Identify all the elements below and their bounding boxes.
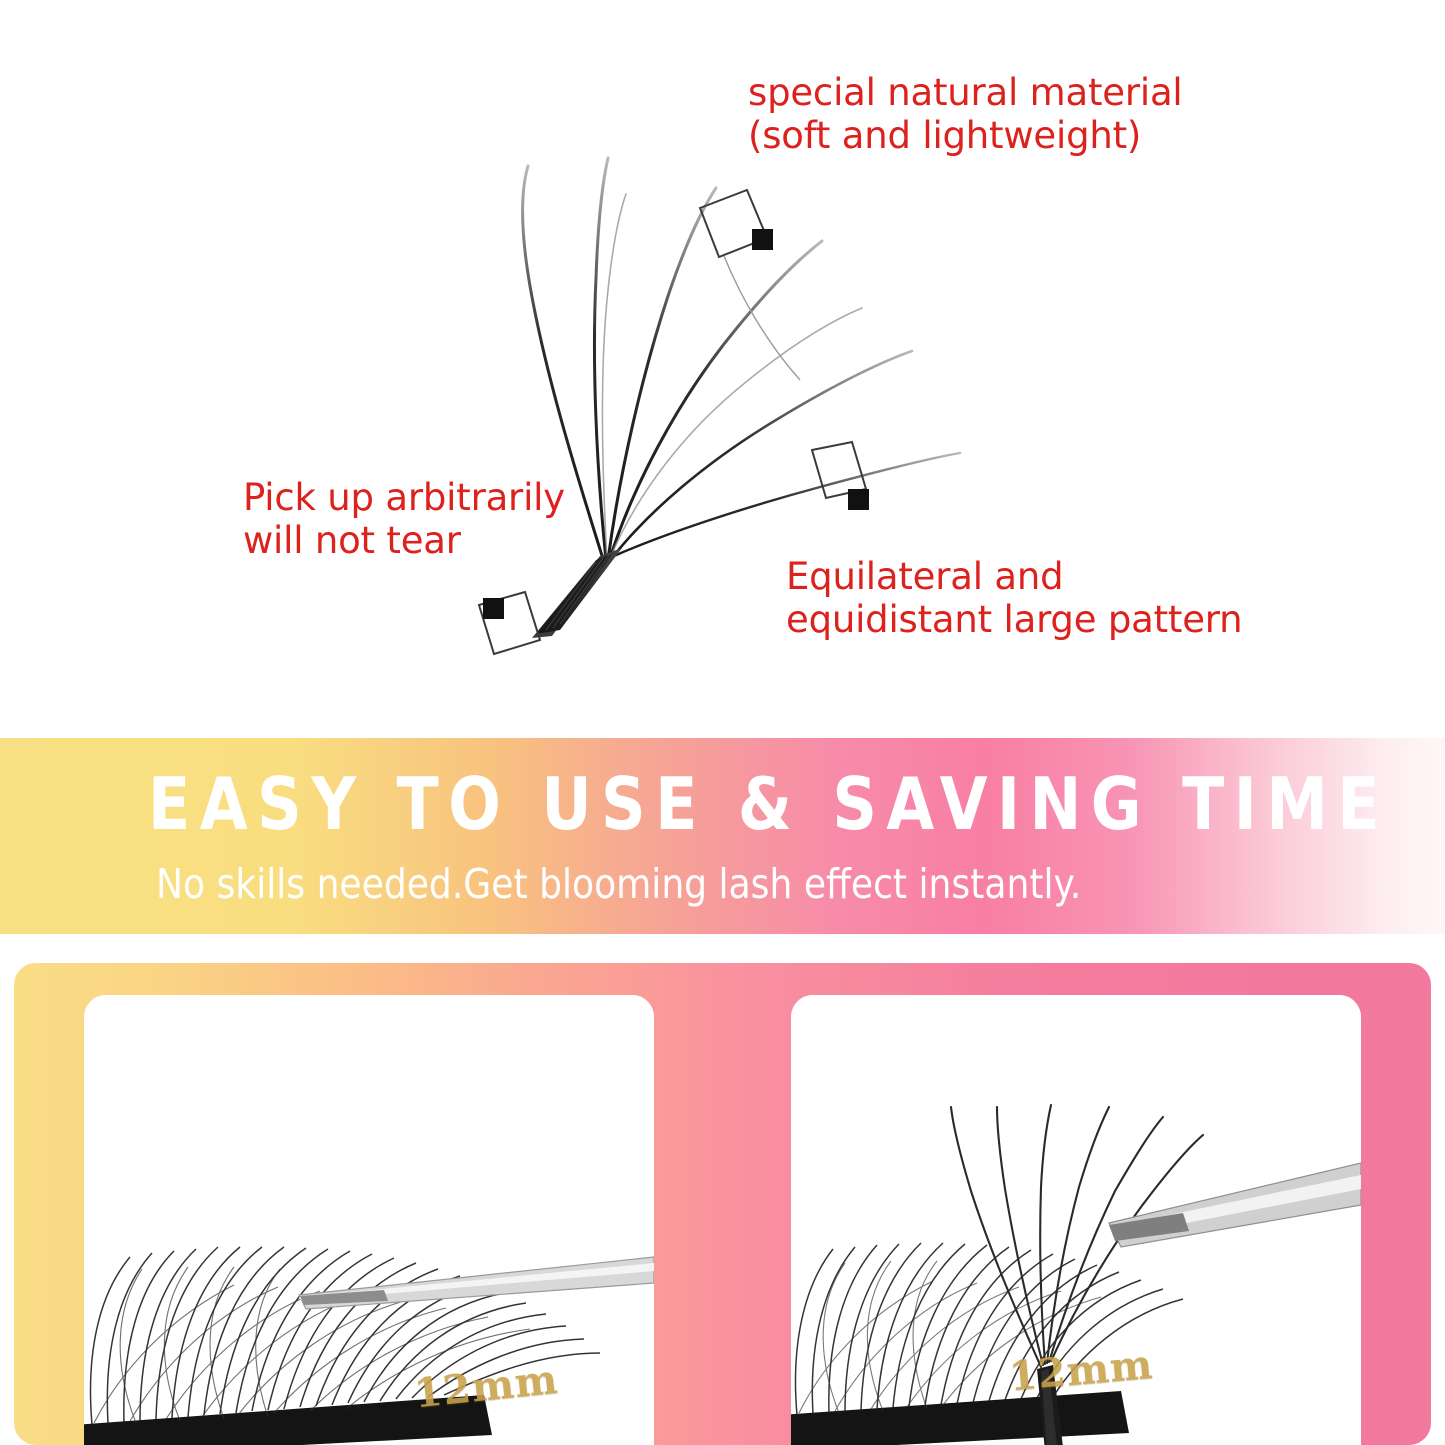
callout-material: special natural material (soft and light… [748, 72, 1183, 158]
product-infographic: special natural material (soft and light… [0, 0, 1445, 1445]
promo-banner: EASY TO USE & SAVING TIME No skills need… [0, 738, 1445, 934]
lash-fan-diagram-section: special natural material (soft and light… [0, 0, 1445, 738]
callout-pick-up: Pick up arbitrarily will not tear [243, 477, 565, 563]
photo-lash-tray-with-tweezers [84, 995, 654, 1445]
callout-pattern: Equilateral and equidistant large patter… [786, 556, 1242, 642]
product-photo-panel: 12mm [14, 963, 1431, 1445]
rotated-square-marker-base [479, 592, 540, 654]
lash-strands-secondary [602, 194, 862, 560]
lash-strands [523, 158, 960, 562]
banner-title: EASY TO USE & SAVING TIME [148, 768, 1389, 840]
photo-card-right: 12mm [791, 995, 1361, 1445]
banner-subtitle: No skills needed.Get blooming lash effec… [156, 864, 1081, 905]
photo-card-left: 12mm [84, 995, 654, 1445]
